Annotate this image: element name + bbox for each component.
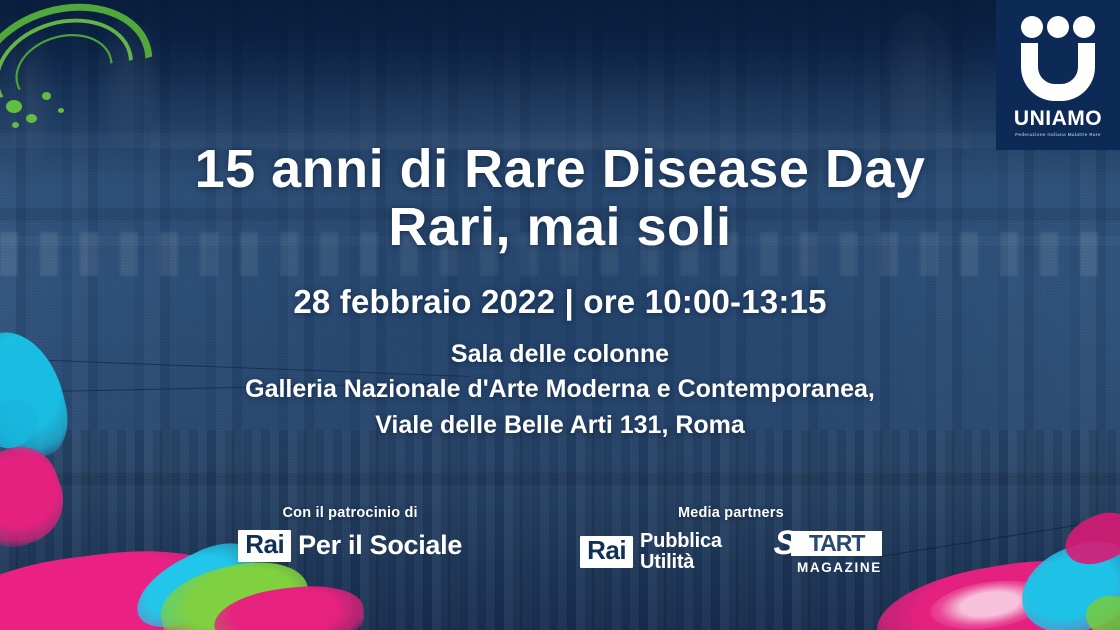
start-tart-letters: TART	[809, 532, 865, 555]
rai-per-il-sociale-label: Per il Sociale	[298, 532, 462, 559]
rai-badge: Rai	[238, 530, 291, 562]
page-title: 15 anni di Rare Disease Day Rari, mai so…	[0, 140, 1120, 257]
venue-room: Sala delle colonne	[245, 337, 875, 373]
partners-footer: Con il patrocinio di Rai Per il Sociale …	[0, 505, 1120, 574]
rai-pubblica-line: Pubblica	[640, 531, 722, 552]
patrocinio-group: Con il patrocinio di Rai Per il Sociale	[238, 505, 462, 562]
event-datetime: 28 febbraio 2022 | ore 10:00-13:15	[293, 283, 826, 321]
start-tart-bar: TART	[791, 531, 881, 556]
start-wordmark: S TART	[774, 530, 882, 558]
venue-institution: Galleria Nazionale d'Arte Moderna e Cont…	[245, 372, 875, 408]
media-partners-group: Media partners Rai Pubblica Utilità S TA…	[580, 505, 882, 574]
media-partners-logos: Rai Pubblica Utilità S TART MAGAZINE	[580, 530, 882, 574]
title-line-2: Rari, mai soli	[0, 198, 1120, 256]
venue-address: Viale delle Belle Arti 131, Roma	[245, 408, 875, 444]
rai-pubblica-utilita-logo: Rai Pubblica Utilità	[580, 531, 722, 573]
rai-pubblica-utilita-label: Pubblica Utilità	[640, 531, 722, 573]
patrocinio-logos: Rai Per il Sociale	[238, 530, 462, 562]
event-venue: Sala delle colonne Galleria Nazionale d'…	[245, 337, 875, 444]
title-line-1: 15 anni di Rare Disease Day	[0, 140, 1120, 198]
start-magazine-sublabel: MAGAZINE	[797, 561, 882, 575]
patrocinio-label: Con il patrocinio di	[282, 505, 417, 521]
rai-utilita-line: Utilità	[640, 552, 722, 573]
rai-badge: Rai	[580, 536, 633, 568]
rai-per-il-sociale-logo: Rai Per il Sociale	[238, 530, 462, 562]
media-partners-label: Media partners	[678, 505, 784, 521]
event-poster: UNIAMO Federazione Italiana Malattie Rar…	[0, 0, 1120, 630]
start-magazine-logo: S TART MAGAZINE	[774, 530, 882, 574]
